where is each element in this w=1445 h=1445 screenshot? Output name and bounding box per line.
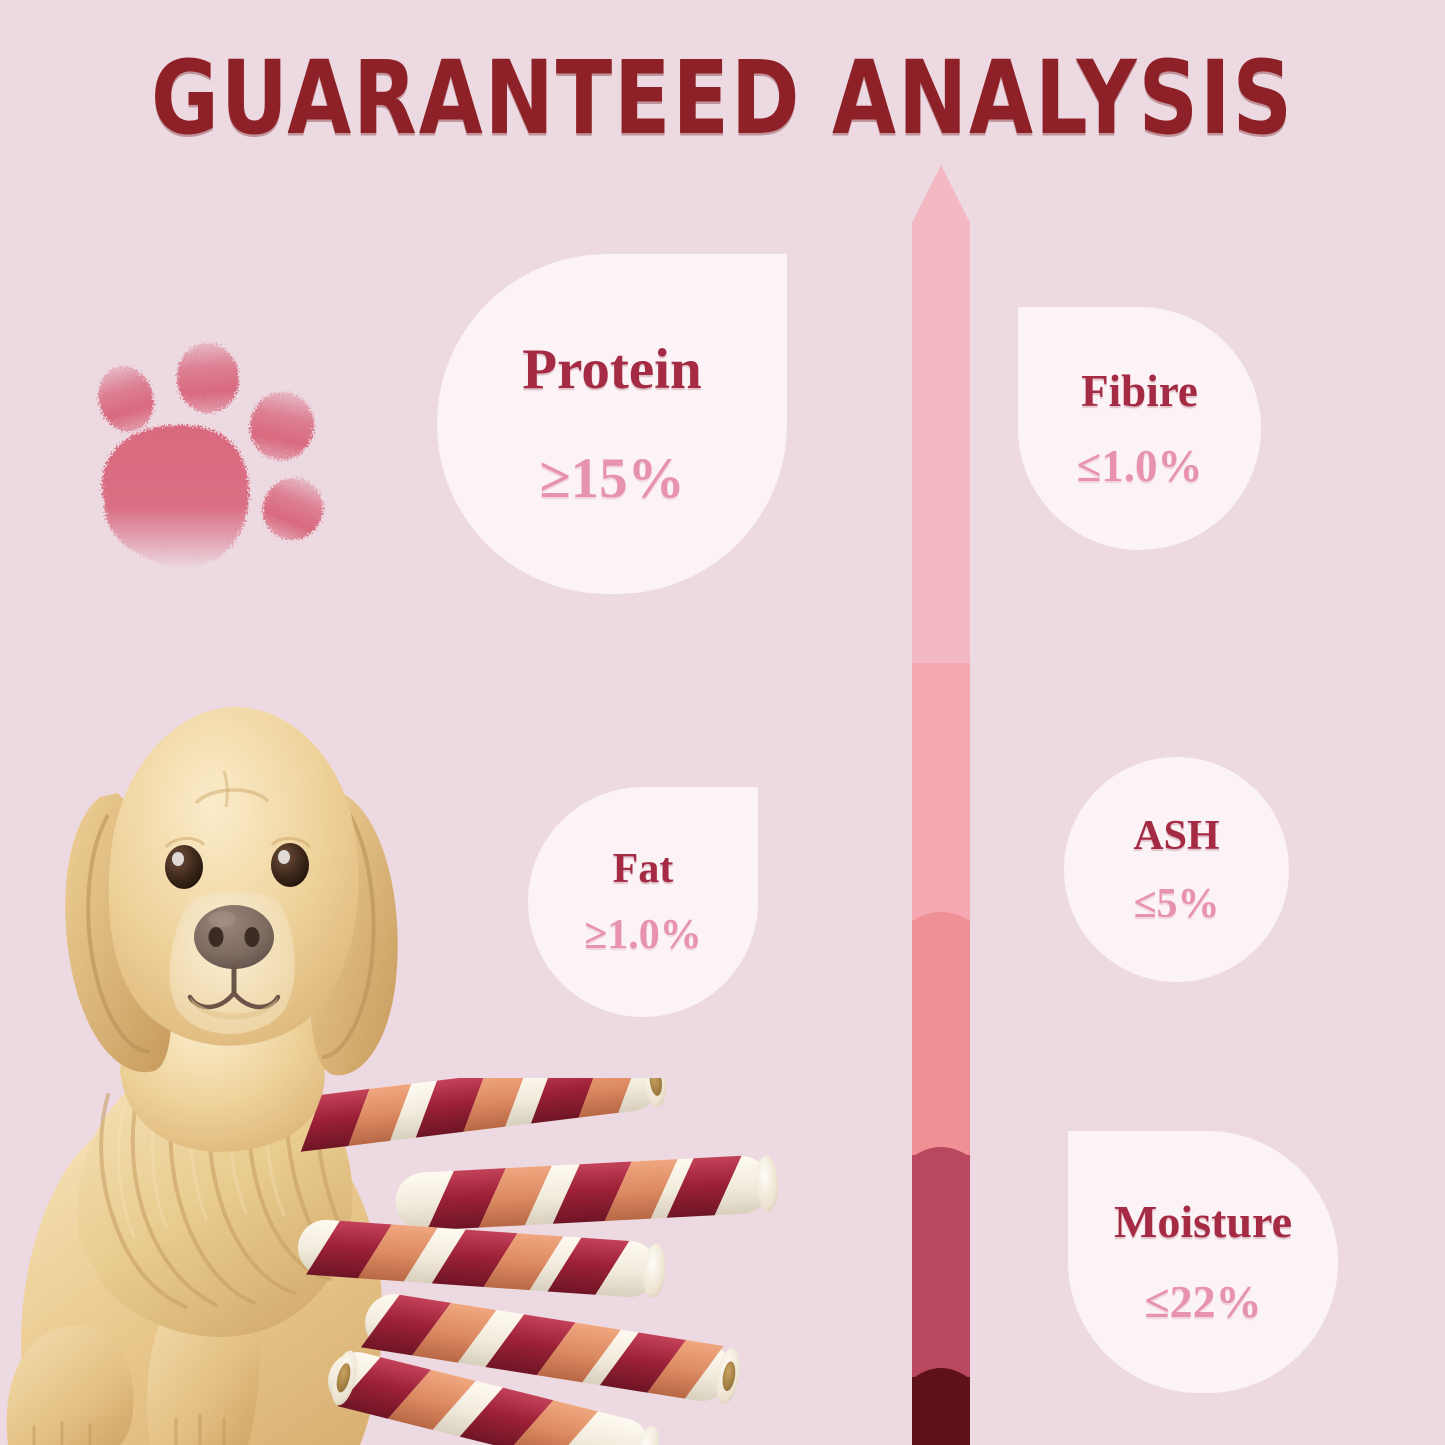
nutrition-value: ≤5% [1133,883,1219,925]
dog-nose [194,905,274,969]
gauge-segment-1 [912,165,970,665]
dog-chew-treats [282,1078,822,1445]
nutrition-label: Moisture [1114,1199,1292,1245]
nutrition-label: Fat [613,848,674,890]
nutrition-value: ≤22% [1144,1279,1261,1325]
dog-eye-right [271,843,309,887]
nutrition-card-fibire: Fibire ≤1.0% [1018,307,1261,550]
nutrition-card-moisture: Moisture ≤22% [1068,1131,1338,1393]
nutrition-value: ≤1.0% [1077,444,1203,489]
page-title: GUARANTEED ANALYSIS [43,38,1401,157]
nutrition-label: Protein [522,341,701,398]
gauge-segment-5 [912,1377,970,1445]
paw-print-icon [78,326,348,596]
gauge-segment-3 [912,923,970,1155]
nutrition-card-fat: Fat ≥1.0% [528,787,758,1017]
nutrition-card-ash: ASH ≤5% [1064,757,1289,982]
nutrition-label: ASH [1133,815,1219,857]
nutrition-value: ≥15% [539,450,684,507]
gauge-segment-2 [912,663,970,925]
nutrition-value: ≥1.0% [584,914,702,956]
poster-canvas: GUARANTEED ANALYSIS [0,0,1445,1445]
dog-eye-left [165,845,203,889]
nutrition-card-protein: Protein ≥15% [437,254,787,594]
nutrition-label: Fibire [1081,369,1198,414]
gauge-segment-4 [912,1155,970,1377]
gauge-arrow [912,165,970,1445]
